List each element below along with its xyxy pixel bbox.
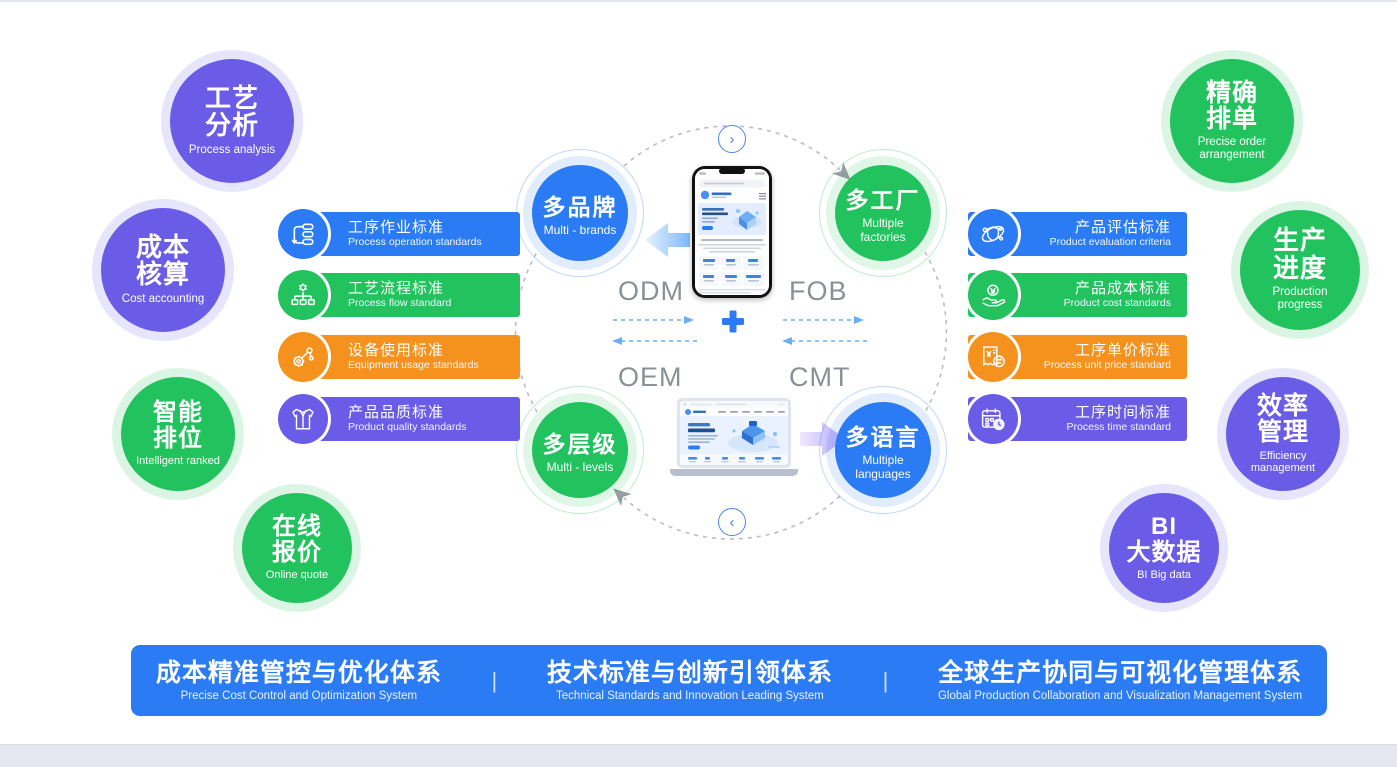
- bubble-title-zh: 在线报价: [272, 514, 322, 564]
- center-circle-title-zh: 多工厂: [846, 181, 921, 215]
- hand-yuan-icon: [968, 270, 1018, 320]
- standard-label-en: Equipment usage standards: [348, 359, 520, 372]
- right-standard-item-0[interactable]: 产品评估标准Product evaluation criteria: [968, 212, 1213, 256]
- right-bubble-1[interactable]: 生产进度Productionprogress: [1231, 201, 1369, 339]
- banner-title-zh: 技术标准与创新引领体系: [547, 658, 833, 688]
- invoice-yuan-icon: [968, 332, 1018, 382]
- banner-title-en: Global Production Collaboration and Visu…: [938, 688, 1302, 704]
- bubble-title-zh: 效率管理: [1257, 393, 1309, 446]
- center-circle-3[interactable]: 多语言Multiplelanguages: [819, 386, 947, 514]
- banner-title-en: Precise Cost Control and Optimization Sy…: [181, 688, 417, 704]
- center-circle-title-en: Multiplefactories: [860, 217, 905, 245]
- phone-notch: [719, 168, 745, 174]
- mode-label-oem: OEM: [618, 362, 683, 393]
- center-circle-1[interactable]: 多工厂Multiplefactories: [819, 149, 947, 277]
- standard-label-en: Process unit price standard: [1044, 359, 1171, 372]
- mode-label-odm: ODM: [618, 276, 684, 307]
- standard-label-zh: 设备使用标准: [348, 342, 520, 359]
- bubble-title-en: Cost accounting: [122, 293, 204, 306]
- standard-label-en: Process operation standards: [348, 236, 520, 249]
- bubble-title-en: Intelligent ranked: [136, 455, 220, 468]
- bubble-title-en: Productionprogress: [1273, 286, 1328, 312]
- chevron-right-icon: ›: [730, 131, 735, 148]
- center-circle-title-zh: 多语言: [846, 418, 921, 452]
- left-standard-item-3[interactable]: 产品品质标准Product quality standards: [278, 397, 520, 441]
- flow-arrow-left: [645, 223, 690, 257]
- shirt-icon: [278, 394, 328, 444]
- bubble-body: 工艺分析Process analysis: [170, 59, 294, 183]
- standard-label-zh: 工序作业标准: [348, 219, 520, 236]
- mobile-app-preview: [692, 166, 772, 298]
- standard-label-zh: 工艺流程标准: [348, 280, 520, 297]
- mode-label-fob: FOB: [789, 276, 848, 307]
- banner-title-en: Technical Standards and Innovation Leadi…: [556, 688, 824, 704]
- right-bubble-3[interactable]: BI大数据BI Big data: [1100, 484, 1228, 612]
- standard-label-zh: 工序时间标准: [1075, 404, 1171, 421]
- center-circle-body: 多工厂Multiplefactories: [835, 165, 931, 261]
- bubble-title-en: Online quote: [266, 569, 328, 582]
- mode-label-cmt: CMT: [789, 362, 850, 393]
- standard-pill-bar: 设备使用标准Equipment usage standards: [304, 335, 520, 379]
- standard-label-zh: 产品评估标准: [1075, 219, 1171, 236]
- machine-gear-icon: [278, 332, 328, 382]
- bubble-title-zh: 智能排位: [153, 400, 203, 450]
- desktop-app-preview: [670, 398, 798, 480]
- banner-divider: |: [883, 668, 889, 694]
- standard-pill-bar: 产品品质标准Product quality standards: [304, 397, 520, 441]
- right-standard-item-2[interactable]: 工序单价标准Process unit price standard: [968, 335, 1213, 379]
- left-bubble-1[interactable]: 成本核算Cost accounting: [92, 199, 234, 341]
- bubble-title-zh: BI大数据: [1127, 514, 1202, 564]
- standard-label-zh: 产品品质标准: [348, 404, 520, 421]
- center-circle-title-zh: 多品牌: [543, 188, 618, 222]
- center-circle-body: 多语言Multiplelanguages: [835, 402, 931, 498]
- left-standard-item-0[interactable]: 工序作业标准Process operation standards: [278, 212, 520, 256]
- standard-label-en: Process time standard: [1067, 421, 1171, 434]
- right-standard-item-1[interactable]: 产品成本标准Product cost standards: [968, 273, 1213, 317]
- right-bubble-0[interactable]: 精确排单Precise orderarrangement: [1161, 50, 1303, 192]
- laptop-base: [670, 469, 798, 476]
- bubble-body: 精确排单Precise orderarrangement: [1170, 59, 1294, 183]
- banner-title-zh: 全球生产协同与可视化管理体系: [938, 658, 1302, 688]
- bubble-body: 智能排位Intelligent ranked: [121, 377, 235, 491]
- center-circle-body: 多品牌Multi - brands: [532, 165, 628, 261]
- standard-label-en: Product cost standards: [1064, 297, 1171, 310]
- center-circle-body: 多层级Multi - levels: [532, 402, 628, 498]
- chevron-left-icon: ‹: [730, 514, 735, 531]
- banner-segment-2: 全球生产协同与可视化管理体系Global Production Collabor…: [938, 658, 1302, 704]
- standard-pill-bar: 工序作业标准Process operation standards: [304, 212, 520, 256]
- banner-title-zh: 成本精准管控与优化体系: [156, 658, 442, 688]
- bubble-title-zh: 精确排单: [1206, 80, 1258, 133]
- bubble-body: 效率管理Efficiencymanagement: [1226, 377, 1340, 491]
- top-divider: [0, 0, 1397, 2]
- left-bubble-2[interactable]: 智能排位Intelligent ranked: [112, 368, 244, 500]
- left-standard-item-2[interactable]: 设备使用标准Equipment usage standards: [278, 335, 520, 379]
- banner-segment-1: 技术标准与创新引领体系Technical Standards and Innov…: [547, 658, 833, 704]
- banner-divider: |: [492, 668, 498, 694]
- standard-label-en: Process flow standard: [348, 297, 520, 310]
- standard-label-en: Product evaluation criteria: [1050, 236, 1171, 249]
- plus-icon: [722, 311, 744, 333]
- calendar-clock-icon: [968, 394, 1018, 444]
- bubble-title-zh: 工艺分析: [205, 85, 259, 140]
- carousel-next-button[interactable]: ›: [718, 125, 746, 153]
- center-circle-2[interactable]: 多层级Multi - levels: [516, 386, 644, 514]
- summary-banner: 成本精准管控与优化体系Precise Cost Control and Opti…: [131, 645, 1327, 716]
- bubble-title-en: Precise orderarrangement: [1198, 136, 1266, 162]
- left-bubble-3[interactable]: 在线报价Online quote: [233, 484, 361, 612]
- right-standard-item-3[interactable]: 工序时间标准Process time standard: [968, 397, 1213, 441]
- right-bubble-2[interactable]: 效率管理Efficiencymanagement: [1217, 368, 1349, 500]
- gear-hierarchy-icon: [278, 270, 328, 320]
- bottom-strip: [0, 745, 1397, 767]
- bubble-body: BI大数据BI Big data: [1109, 493, 1219, 603]
- bubble-title-zh: 成本核算: [136, 234, 190, 289]
- left-bubble-0[interactable]: 工艺分析Process analysis: [161, 50, 303, 192]
- center-circle-title-en: Multiplelanguages: [855, 454, 910, 482]
- center-circle-title-zh: 多层级: [543, 425, 618, 459]
- shield-orbit-icon: [968, 209, 1018, 259]
- center-circle-title-en: Multi - levels: [547, 461, 614, 475]
- center-circle-0[interactable]: 多品牌Multi - brands: [516, 149, 644, 277]
- infographic-canvas: 多品牌Multi - brands多工厂Multiplefactories多层级…: [0, 0, 1397, 767]
- process-flow-icon: [278, 209, 328, 259]
- bubble-title-en: BI Big data: [1137, 569, 1191, 582]
- standard-pill-bar: 工艺流程标准Process flow standard: [304, 273, 520, 317]
- banner-segment-0: 成本精准管控与优化体系Precise Cost Control and Opti…: [156, 658, 442, 704]
- standard-label-zh: 产品成本标准: [1075, 280, 1171, 297]
- bubble-title-en: Efficiencymanagement: [1251, 450, 1315, 475]
- bubble-body: 成本核算Cost accounting: [101, 208, 225, 332]
- bubble-body: 在线报价Online quote: [242, 493, 352, 603]
- bubble-title-en: Process analysis: [189, 144, 275, 157]
- carousel-prev-button[interactable]: ‹: [718, 508, 746, 536]
- bubble-title-zh: 生产进度: [1273, 227, 1327, 282]
- left-standard-item-1[interactable]: 工艺流程标准Process flow standard: [278, 273, 520, 317]
- bubble-body: 生产进度Productionprogress: [1240, 210, 1360, 330]
- standard-label-zh: 工序单价标准: [1075, 342, 1171, 359]
- standard-label-en: Product quality standards: [348, 421, 520, 434]
- center-circle-title-en: Multi - brands: [544, 224, 617, 238]
